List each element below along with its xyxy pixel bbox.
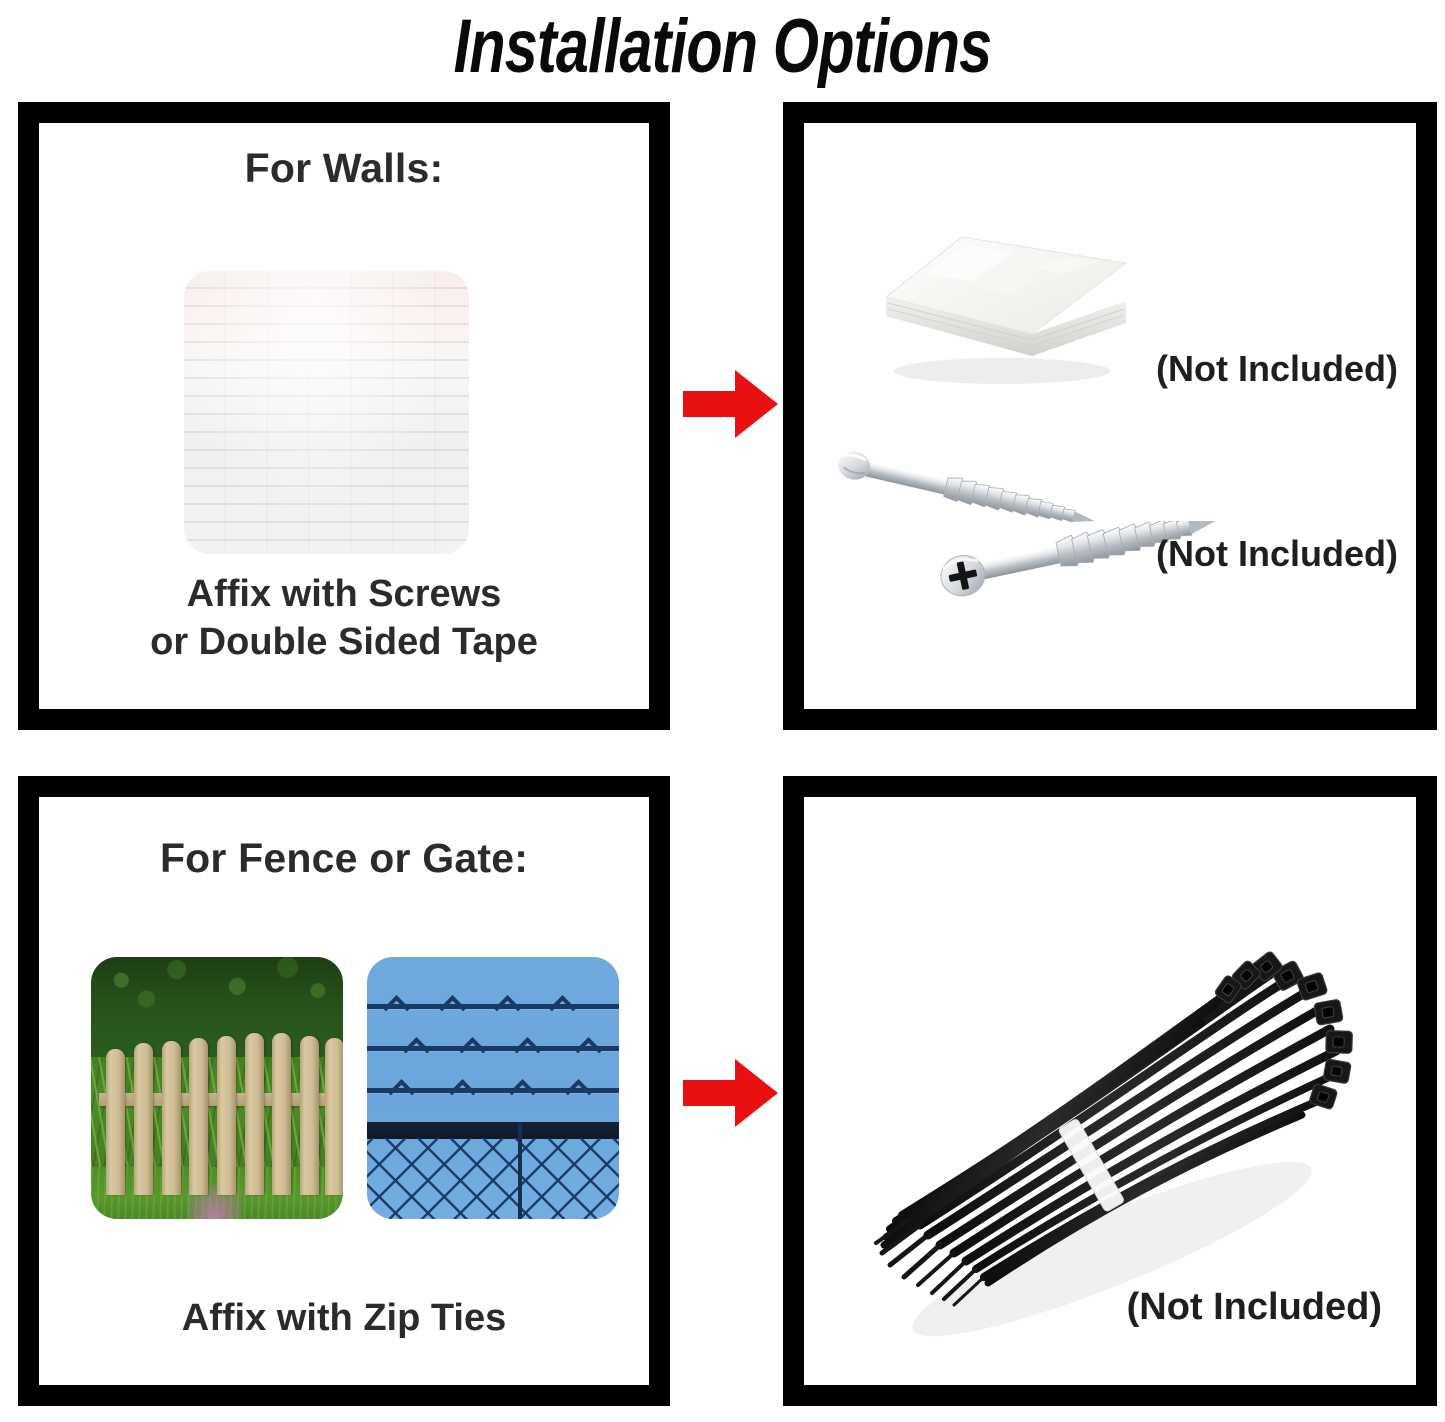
wall-highlight [184,271,469,554]
panel-wall-hardware: (Not Included) [783,102,1437,730]
fence-picket [300,1036,319,1196]
red-right-arrow-icon-top [683,368,779,440]
panel-for-fence-or-gate: For Fence or Gate: [18,776,670,1406]
fence-picket [245,1033,264,1195]
screws-not-included-label: (Not Included) [1156,533,1398,575]
chain-link-mesh [367,1138,619,1219]
tape-not-included-label: (Not Included) [1156,348,1398,390]
fence-picket [189,1038,208,1195]
walls-heading: For Walls: [39,145,649,192]
walls-caption-line-1: Affix with Screws [39,570,649,619]
zipties-not-included-label: (Not Included) [1127,1286,1382,1329]
panel-wall-hardware-inner: (Not Included) [804,123,1416,709]
fence-picket [162,1041,181,1196]
fence-post [518,1122,522,1219]
panel-for-walls: For Walls: Affix with Screws or Double S… [18,102,670,730]
panel-for-fence-or-gate-inner: For Fence or Gate: [39,797,649,1385]
fence-heading: For Fence or Gate: [39,835,649,882]
fence-caption: Affix with Zip Ties [39,1294,649,1343]
fence-top-rail [367,1122,619,1139]
zip-tie-bundle-image [862,919,1382,1339]
fence-picket [134,1043,153,1195]
fence-picket [272,1033,291,1195]
fence-picket [106,1049,125,1196]
page-title: Installation Options [159,0,1286,92]
fence-picket [217,1036,236,1196]
wooden-fence-photo [91,957,343,1219]
walls-caption: Affix with Screws or Double Sided Tape [39,570,649,667]
panel-zip-ties-inner: (Not Included) [804,797,1416,1385]
white-brick-wall-image [184,271,469,554]
panel-for-walls-inner: For Walls: Affix with Screws or Double S… [39,123,649,709]
double-sided-tape-stack-image [864,219,1129,394]
fence-picket [325,1038,343,1195]
panel-zip-ties: (Not Included) [783,776,1437,1406]
red-right-arrow-icon-bottom [683,1057,779,1129]
wire-fence-photo [367,957,619,1219]
walls-caption-line-2: or Double Sided Tape [39,618,649,667]
